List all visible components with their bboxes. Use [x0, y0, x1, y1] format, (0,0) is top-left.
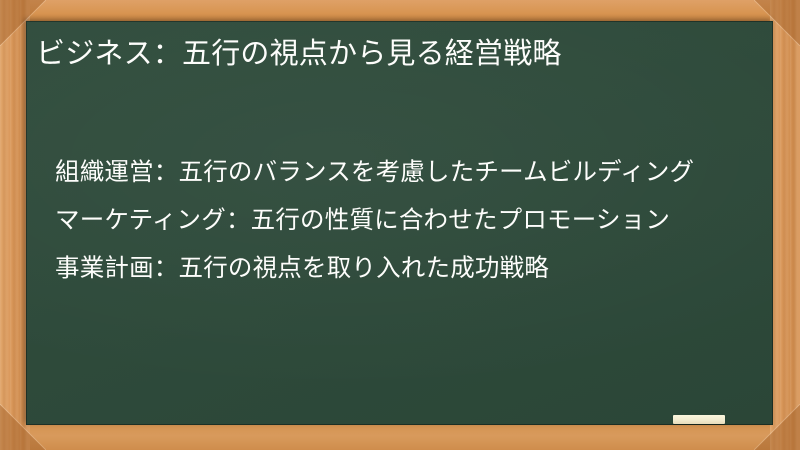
- blackboard-surface: ビジネス：五行の視点から見る経営戦略 組織運営：五行のバランスを考慮したチームビ…: [26, 21, 773, 425]
- bullet-item-marketing: マーケティング：五行の性質に合わせたプロモーション: [55, 202, 745, 240]
- bullet-item-business-plan: 事業計画：五行の視点を取り入れた成功戦略: [55, 250, 745, 288]
- slide-title: ビジネス：五行の視点から見る経営戦略: [36, 32, 752, 76]
- frame-right-rail: [770, 0, 800, 450]
- chalkboard-slide: ビジネス：五行の視点から見る経営戦略 組織運営：五行のバランスを考慮したチームビ…: [0, 0, 800, 450]
- chalk-stick-icon: [673, 415, 725, 424]
- bullet-item-organization: 組織運営：五行のバランスを考慮したチームビルディング: [55, 154, 745, 192]
- bullet-list: 組織運営：五行のバランスを考慮したチームビルディング マーケティング：五行の性質…: [55, 154, 745, 288]
- frame-bottom-rail: [0, 422, 800, 450]
